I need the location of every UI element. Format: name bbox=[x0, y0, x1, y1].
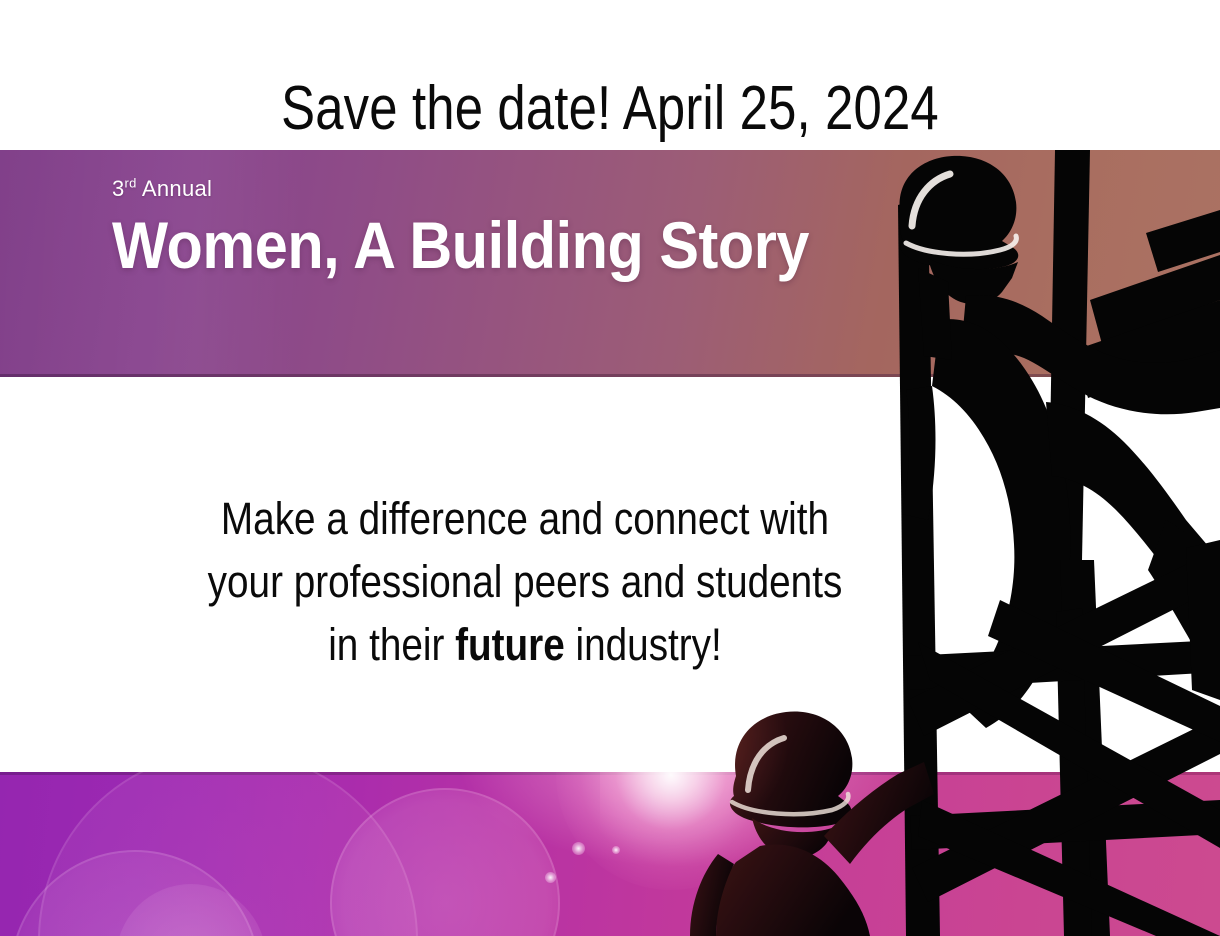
event-banner: 3rd Annual Women, A Building Story bbox=[0, 150, 1220, 377]
body-line-3: in their future industry! bbox=[74, 613, 977, 676]
annual-label: 3rd Annual bbox=[112, 176, 886, 202]
footer-banner bbox=[0, 772, 1220, 936]
event-title: Women, A Building Story bbox=[112, 206, 809, 284]
lens-flare-orb-small bbox=[330, 788, 560, 936]
body-copy: Make a difference and connect with your … bbox=[0, 487, 1050, 676]
lens-flare-orb-large bbox=[38, 772, 418, 936]
annual-ordinal-suffix: rd bbox=[125, 176, 137, 191]
page-title: Save the date! April 25, 2024 bbox=[110, 72, 1110, 146]
body-emphasis-future: future bbox=[455, 619, 565, 670]
annual-number: 3 bbox=[112, 176, 125, 201]
lens-flare-orb-inner bbox=[116, 884, 266, 936]
banner-text-group: 3rd Annual Women, A Building Story bbox=[112, 176, 886, 284]
save-the-date-poster: Save the date! April 25, 2024 3rd Annual… bbox=[0, 0, 1220, 936]
body-line-2: your professional peers and students bbox=[74, 550, 977, 613]
body-line-3-suffix: industry! bbox=[565, 619, 722, 670]
lens-flare-beam bbox=[300, 772, 920, 936]
body-line-1: Make a difference and connect with bbox=[74, 487, 977, 550]
lens-flare-core bbox=[556, 772, 786, 890]
lens-flare-orb-medium bbox=[10, 850, 260, 936]
body-line-3-prefix: in their bbox=[328, 619, 455, 670]
annual-word: Annual bbox=[137, 176, 213, 201]
